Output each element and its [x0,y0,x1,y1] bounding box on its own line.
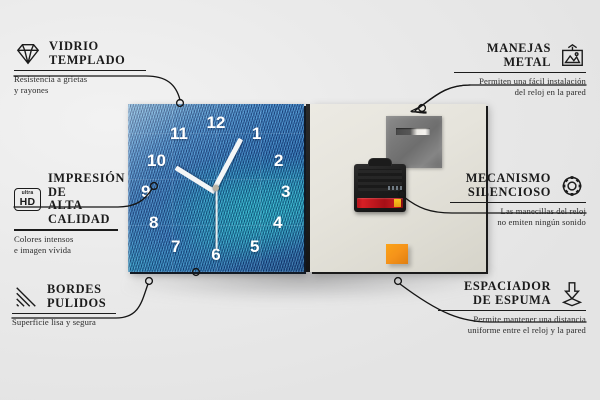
ultra-hd-icon: ultra HD [14,188,41,211]
callout-bordes-pulidos[interactable]: BORDES PULIDOS Superficie lisa y segura [12,283,116,328]
leader-dot-bordes [146,278,153,285]
callout-rule [12,313,116,314]
callout-impresion-alta-calidad[interactable]: ultra HD IMPRESIÓN DE ALTA CALIDAD Color… [14,172,118,256]
callout-vidrio-templado[interactable]: VIDRIO TEMPLADO Resistencia a grietas y … [14,40,146,96]
gear-icon [558,173,586,199]
callout-desc-line-1: Colores intensos [14,234,118,245]
callout-manejas-metal[interactable]: MANEJAS METAL Permiten una fácil instala… [454,42,586,98]
callout-desc-line-1: Permiten una fácil instalación [454,76,586,87]
callout-title: MECANISMO SILENCIOSO [466,172,551,199]
callout-head: MECANISMO SILENCIOSO [450,172,586,199]
callout-desc-line-2: del reloj en la pared [454,87,586,98]
callout-desc-line-2: uniforme entre el reloj y la pared [438,325,586,336]
callout-desc-line-2: y rayones [14,85,146,96]
wall-hanger-frame-icon [558,43,586,69]
leader-dot-front-bottom [193,269,200,276]
callout-rule [14,70,146,71]
callout-title: MANEJAS METAL [487,42,551,69]
callout-rule [14,229,118,230]
callout-desc-line-1: Resistencia a grietas [14,74,146,85]
callout-head: BORDES PULIDOS [12,283,116,310]
callout-title: IMPRESIÓN DE ALTA CALIDAD [48,172,125,226]
callout-desc-line-2: e imagen vívida [14,245,118,256]
callout-rule [454,72,586,73]
callout-rule [438,310,586,311]
ultra-hd-main-label: HD [20,197,36,208]
diamond-icon [14,41,42,67]
callout-desc-line-1: Permite mantener una distancia [438,314,586,325]
callout-desc-line-2: no emiten ningún sonido [450,217,586,228]
callout-desc-line-1: Las manecillas del reloj [450,206,586,217]
callout-head: ultra HD IMPRESIÓN DE ALTA CALIDAD [14,172,118,226]
callout-title: ESPACIADOR DE ESPUMA [464,280,551,307]
down-arrow-spacer-icon [558,281,586,307]
leader-dot-espaciador [395,278,402,285]
polished-edges-icon [12,284,40,310]
callout-head: VIDRIO TEMPLADO [14,40,146,67]
callout-espaciador-de-espuma[interactable]: ESPACIADOR DE ESPUMA Permite mantener un… [438,280,586,336]
callout-mecanismo-silencioso[interactable]: MECANISMO SILENCIOSO Las manecillas del … [450,172,586,228]
callout-rule [450,202,586,203]
infographic-stage: 12 1 2 3 4 5 6 7 8 9 10 11 [0,0,600,400]
callout-title: VIDRIO TEMPLADO [49,40,125,67]
callout-head: ESPACIADOR DE ESPUMA [438,280,586,307]
callout-head: MANEJAS METAL [454,42,586,69]
leader-dot-impresion [151,183,158,190]
callout-title: BORDES PULIDOS [47,283,106,310]
callout-desc-line-1: Superficie lisa y segura [12,317,116,328]
leader-dot-mecanismo [399,191,406,198]
